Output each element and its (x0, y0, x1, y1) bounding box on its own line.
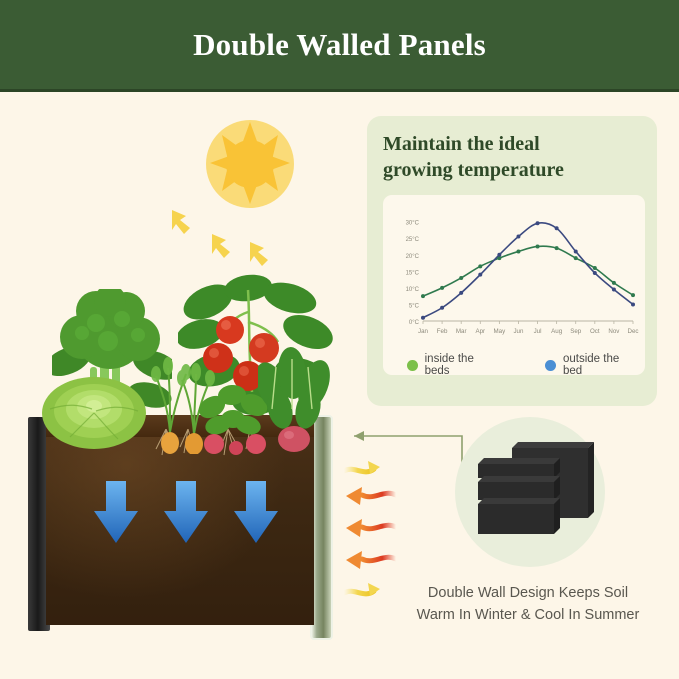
chart-data-point (440, 286, 444, 290)
plant-beet (258, 347, 330, 452)
chart-panel: 0°C5°C10°C15°C20°C25°C30°C JanFebMarAprM… (383, 195, 645, 375)
chart-x-tick-label: Feb (437, 328, 448, 335)
chart-series-outside-line (423, 223, 633, 318)
chart-series-inside-points (421, 245, 635, 299)
legend-dot-inside-icon (407, 360, 418, 371)
chart-data-point (574, 256, 578, 260)
chart-data-point (555, 246, 559, 250)
chart-data-point (421, 294, 425, 298)
chart-y-tick-label: 15°C (406, 271, 420, 277)
chart-data-point (459, 291, 463, 295)
chart-data-point (421, 316, 425, 320)
chart-x-tick-label: Jan (418, 328, 429, 335)
chart-data-point (459, 276, 463, 280)
chart-x-tick-label: Oct (590, 328, 600, 335)
chart-x-tick-label: May (494, 328, 507, 335)
chart-data-point (574, 250, 578, 254)
chart-x-tick-label: Aug (551, 328, 563, 335)
temperature-line-chart: 0°C5°C10°C15°C20°C25°C30°C JanFebMarAprM… (389, 203, 639, 343)
chart-series-inside-line (423, 246, 633, 296)
chart-y-axis-labels: 0°C5°C10°C15°C20°C25°C30°C (406, 221, 420, 326)
chart-data-point (612, 281, 616, 285)
chart-data-point (612, 288, 616, 292)
chart-x-axis-labels: JanFebMarAprMayJunJulAugSepOctNovDec (418, 328, 639, 335)
page-title: Double Walled Panels (193, 27, 486, 63)
beet-art (258, 347, 332, 453)
chart-data-point (478, 265, 482, 269)
badge-caption-line1: Double Wall Design Keeps Soil (378, 582, 678, 604)
header-bar: Double Walled Panels (0, 0, 679, 92)
heat-transfer-down-arrows (88, 479, 288, 549)
legend-item-outside: outside the bed (545, 353, 639, 377)
badge-caption: Double Wall Design Keeps Soil Warm In Wi… (378, 582, 678, 627)
double-wall-panel-icon (470, 430, 595, 555)
chart-data-point (478, 273, 482, 277)
chart-data-point (536, 221, 540, 225)
legend-item-inside: inside the beds (407, 353, 499, 377)
chart-legend: inside the beds outside the bed (389, 343, 639, 377)
chart-series-outside-points (421, 221, 635, 319)
chart-data-point (631, 293, 635, 297)
chart-x-tick-label: Apr (475, 328, 485, 335)
chart-data-point (536, 245, 540, 249)
chart-data-point (516, 250, 520, 254)
chart-y-tick-label: 30°C (406, 221, 420, 227)
chart-card-title: Maintain the ideal growing temperature (383, 132, 643, 183)
chart-data-point (440, 306, 444, 310)
chart-x-tick-label: Jul (534, 328, 542, 335)
chart-data-point (593, 266, 597, 270)
chart-y-tick-label: 25°C (406, 237, 420, 243)
badge-caption-line2: Warm In Winter & Cool In Summer (378, 604, 678, 626)
chart-x-tick-label: Jun (513, 328, 524, 335)
chart-data-point (631, 303, 635, 307)
chart-data-point (555, 226, 559, 230)
chart-x-tick-label: Mar (456, 328, 467, 335)
chart-data-point (593, 271, 597, 275)
chart-x-tick-label: Nov (608, 328, 620, 335)
chart-x-tick-label: Sep (570, 328, 582, 335)
temperature-chart-card: Maintain the ideal growing temperature 0… (367, 116, 657, 406)
legend-dot-outside-icon (545, 360, 556, 371)
legend-label-outside: outside the bed (563, 353, 639, 377)
chart-title-line1: Maintain the ideal (383, 132, 643, 158)
plant-lettuce (40, 365, 150, 450)
chart-y-tick-label: 10°C (406, 287, 420, 293)
sun-illustration (188, 120, 318, 255)
chart-title-line2: growing temperature (383, 158, 643, 184)
garden-bed-illustration (10, 247, 340, 647)
infographic-canvas: Maintain the ideal growing temperature 0… (0, 92, 679, 679)
chart-y-tick-label: 20°C (406, 254, 420, 260)
chart-y-tick-label: 0°C (409, 320, 420, 326)
chart-y-tick-label: 5°C (409, 304, 420, 310)
sun-core (226, 140, 274, 188)
chart-data-point (516, 235, 520, 239)
connector-arrow-icon (354, 431, 364, 441)
lettuce-art (40, 365, 150, 451)
chart-x-tick-label: Dec (627, 328, 638, 335)
chart-data-point (497, 253, 501, 257)
legend-label-inside: inside the beds (425, 353, 500, 377)
